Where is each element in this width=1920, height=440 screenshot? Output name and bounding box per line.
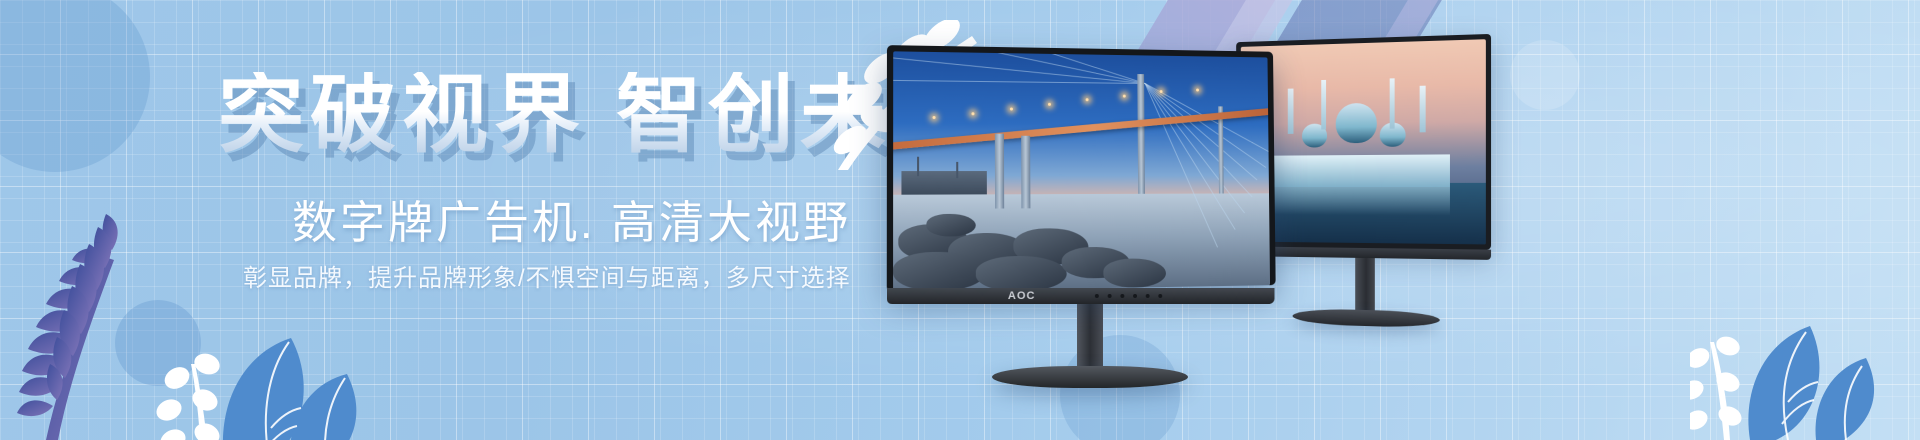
broad-leaf-cluster-icon [95, 178, 365, 440]
monitor-neck [1077, 304, 1103, 366]
subtitle: 数字牌广告机. 高清大视野 [292, 186, 851, 251]
front-monitor: AOC [890, 48, 1290, 378]
mosque-dome [1336, 103, 1377, 144]
promo-banner: 突破视界 智创未来 数字牌广告机. 高清大视野 彰显品牌，提升品牌形象/不惧空间… [0, 0, 1920, 440]
monitor-base [1293, 308, 1440, 328]
bridge-pier [1021, 136, 1030, 209]
foreground-rocks [893, 208, 1161, 292]
monitor-bezel [887, 45, 1276, 292]
product-showcase: AOC [880, 0, 1920, 440]
crane [917, 157, 919, 176]
aoc-logo: AOC [1008, 290, 1036, 302]
shoreline [901, 171, 987, 195]
bridge-pylon [1218, 107, 1224, 194]
mosque-facade [1274, 154, 1450, 187]
mosque-minaret [1420, 86, 1426, 133]
mosque-minaret [1321, 80, 1326, 130]
bridge-pylon [1137, 74, 1145, 194]
vent-holes [1095, 294, 1162, 298]
monitor-base [992, 366, 1188, 388]
mosque-reflection [1274, 187, 1450, 216]
monitor-chin: AOC [887, 288, 1274, 304]
bridge-pier [995, 133, 1004, 209]
crane [956, 162, 958, 179]
monitor-screen [893, 51, 1270, 291]
mosque-minaret [1390, 78, 1395, 128]
monitor-neck [1355, 258, 1375, 310]
